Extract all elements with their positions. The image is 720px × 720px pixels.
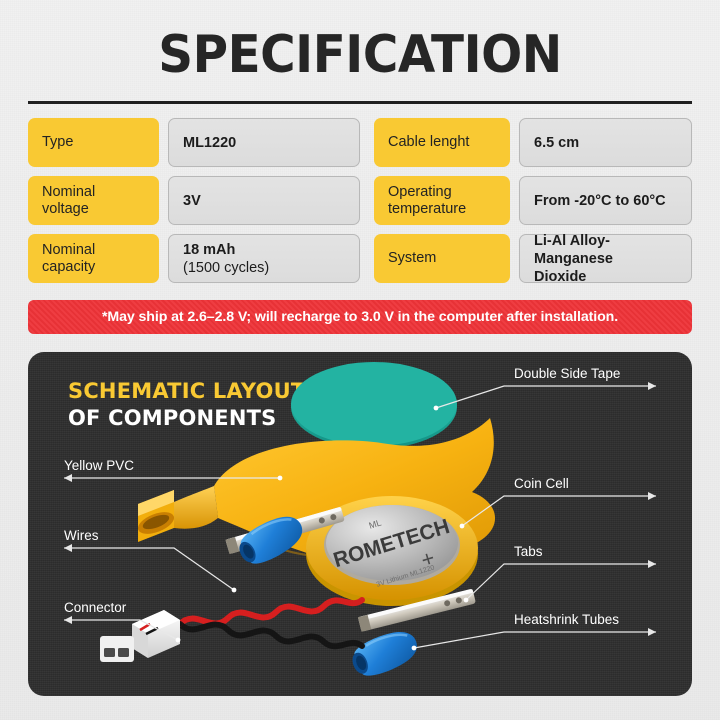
spec-label-line1: Nominal <box>42 184 95 200</box>
spec-label: Nominal capacity <box>28 234 159 283</box>
callout-tabs: Tabs <box>514 544 543 559</box>
spec-value: ML1220 <box>168 118 360 167</box>
schematic-panel: SCHEMATIC LAYOUT OF COMPONENTS <box>28 352 692 696</box>
spec-row: Type ML1220 <box>28 118 360 167</box>
component-illustration: ROMETECH + ML 3V Lithium ML1220 <box>28 352 692 696</box>
spec-value-sub: Dioxide <box>534 268 586 286</box>
spec-label: System <box>374 234 510 283</box>
page-title: SPECIFICATION <box>25 26 695 84</box>
spec-value: 3V <box>168 176 360 225</box>
spec-row: Nominal voltage 3V <box>28 176 360 225</box>
spec-value: 6.5 cm <box>519 118 692 167</box>
spec-row: Cable lenght 6.5 cm <box>360 118 692 167</box>
spec-row: System Li-Al Alloy-Manganese Dioxide <box>360 234 692 283</box>
callout-double-side-tape: Double Side Tape <box>514 366 620 381</box>
spec-label-line2: temperature <box>388 201 466 217</box>
spec-value: Li-Al Alloy-Manganese Dioxide <box>519 234 692 283</box>
spec-column-left: Type ML1220 Nominal voltage 3V Nominal c… <box>28 118 360 283</box>
spec-label: Type <box>28 118 159 167</box>
callout-yellow-pvc: Yellow PVC <box>64 458 134 473</box>
spec-value-main: Li-Al Alloy-Manganese <box>534 232 677 268</box>
callout-heatshrink-tubes: Heatshrink Tubes <box>514 612 619 627</box>
shipping-voltage-note: *May ship at 2.6–2.8 V; will recharge to… <box>28 300 692 334</box>
spec-row: Nominal capacity 18 mAh (1500 cycles) <box>28 234 360 283</box>
spec-value-sub: (1500 cycles) <box>183 259 269 277</box>
spec-value: 18 mAh (1500 cycles) <box>168 234 360 283</box>
double-side-tape-art <box>291 362 457 449</box>
specification-table: Type ML1220 Nominal voltage 3V Nominal c… <box>28 118 692 283</box>
spec-column-right: Cable lenght 6.5 cm Operating temperatur… <box>360 118 692 283</box>
callout-coin-cell: Coin Cell <box>514 476 569 491</box>
spec-value: From -20°C to 60°C <box>519 176 692 225</box>
spec-label-line2: voltage <box>42 201 89 217</box>
wires-art <box>156 600 362 646</box>
spec-row: Operating temperature From -20°C to 60°C <box>360 176 692 225</box>
spec-label-line2: capacity <box>42 259 95 275</box>
spec-label-line1: Operating <box>388 184 452 200</box>
spec-label: Operating temperature <box>374 176 510 225</box>
callout-connector: Connector <box>64 600 126 615</box>
spec-label: Nominal voltage <box>28 176 159 225</box>
callout-wires: Wires <box>64 528 99 543</box>
title-divider <box>28 101 692 104</box>
heatshrink-tube-lower <box>347 624 422 682</box>
spec-label-line1: Nominal <box>42 242 95 258</box>
spec-value-main: 18 mAh <box>183 241 235 259</box>
connector-art <box>100 610 180 662</box>
spec-label: Cable lenght <box>374 118 510 167</box>
